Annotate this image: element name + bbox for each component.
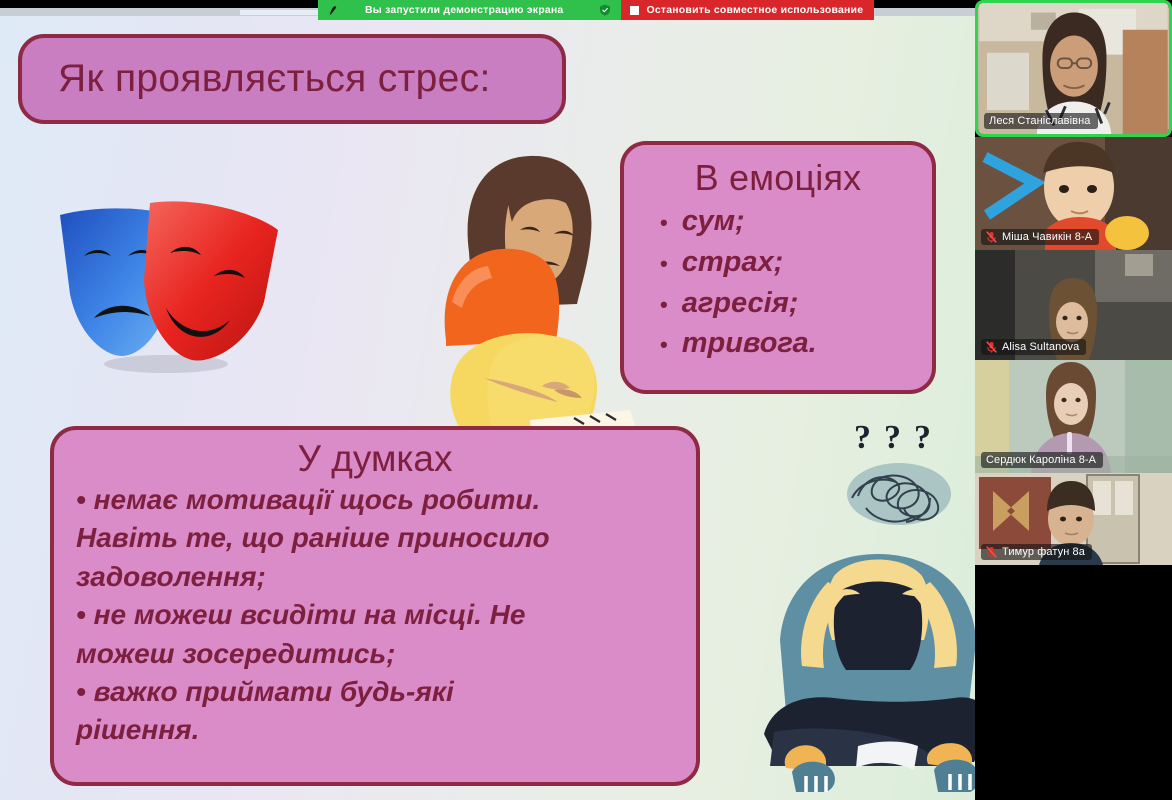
list-item-label: сум; [682, 204, 745, 239]
participant-name-badge: Леся Станіславівна [984, 113, 1098, 129]
svg-text:?: ? [884, 419, 901, 456]
mic-off-icon [986, 341, 997, 353]
emotions-box: В емоціях •сум; •страх; •агресія; •триво… [620, 141, 936, 394]
list-item: •тривога. [652, 323, 932, 364]
list-item: •агресія; [652, 283, 932, 324]
participant-video-rail: Леся Станіславівна [975, 0, 1172, 800]
participant-tile[interactable]: Alisa Sultanova [975, 250, 1172, 360]
screen-share-icon [328, 5, 339, 16]
shield-icon [599, 4, 611, 16]
thoughts-line: • немає мотивації щось робити. [54, 482, 696, 518]
svg-text:?: ? [854, 419, 871, 456]
list-item: •сум; [652, 201, 932, 242]
participant-name: Сердюк Кароліна 8-А [986, 454, 1096, 466]
mic-off-icon [986, 546, 997, 558]
participant-name-badge: Міша Чавикін 8-А [981, 229, 1099, 245]
participant-name: Міша Чавикін 8-А [1002, 231, 1092, 243]
participant-tile[interactable]: Леся Станіславівна [975, 0, 1172, 137]
screen-share-bar: Вы запустили демонстрацию экрана Останов… [318, 0, 874, 20]
screen-share-status: Вы запустили демонстрацию экрана [318, 0, 621, 20]
participant-name: Тимур фатун 8а [1002, 546, 1085, 558]
participant-name-badge: Тимур фатун 8а [981, 544, 1092, 560]
emotions-list: •сум; •страх; •агресія; •тривога. [624, 201, 932, 364]
thoughts-box: У думках • немає мотивації щось робити. … [50, 426, 700, 786]
thoughts-line: • не можеш всидіти на місці. Не [54, 597, 696, 633]
bullet-glyph: • [660, 294, 668, 316]
participant-name: Alisa Sultanova [1002, 341, 1079, 353]
list-item-label: страх; [682, 245, 784, 280]
thoughts-line: Навіть те, що раніше приносило [54, 520, 696, 556]
thoughts-line: рішення. [54, 712, 696, 748]
svg-text:?: ? [914, 419, 931, 456]
bullet-glyph: • [660, 334, 668, 356]
list-item: •страх; [652, 242, 932, 283]
participant-tile[interactable]: Сердюк Кароліна 8-А [975, 360, 1172, 473]
stop-sharing-label: Остановить совместное использование [646, 4, 863, 16]
bullet-glyph: • [660, 212, 668, 234]
thoughts-line: задоволення; [54, 559, 696, 595]
participant-name-badge: Сердюк Кароліна 8-А [981, 452, 1103, 468]
page-title: Як проявляється стрес: [22, 57, 491, 101]
participant-tile[interactable]: Міша Чавикін 8-А [975, 137, 1172, 250]
thoughts-heading: У думках [54, 438, 696, 480]
shared-slide: Як проявляється стрес: В емоціях •сум; •… [0, 8, 1063, 800]
stop-square-icon [630, 6, 639, 15]
theater-masks-illustration [46, 168, 296, 383]
list-item-label: агресія; [682, 286, 799, 321]
thoughts-line: • важко приймати будь-які [54, 674, 696, 710]
sad-girl-hugging-knees-illustration [424, 142, 639, 442]
thoughts-line: можеш зосередитись; [54, 636, 696, 672]
stop-sharing-button[interactable]: Остановить совместное использование [621, 0, 874, 20]
participant-tile[interactable]: Тимур фатун 8а [975, 473, 1172, 565]
emotions-heading: В емоціях [624, 157, 932, 199]
stressed-person-head-in-hands-illustration: ? ? ? [762, 416, 992, 800]
screen: Як проявляється стрес: В емоціях •сум; •… [0, 0, 1172, 800]
slide-title-box: Як проявляється стрес: [18, 34, 566, 124]
participant-name-badge: Alisa Sultanova [981, 339, 1086, 355]
screen-share-label: Вы запустили демонстрацию экрана [347, 4, 591, 16]
participant-name: Леся Станіславівна [989, 115, 1091, 127]
list-item-label: тривога. [682, 326, 817, 361]
mic-off-icon [986, 231, 997, 243]
bullet-glyph: • [660, 253, 668, 275]
